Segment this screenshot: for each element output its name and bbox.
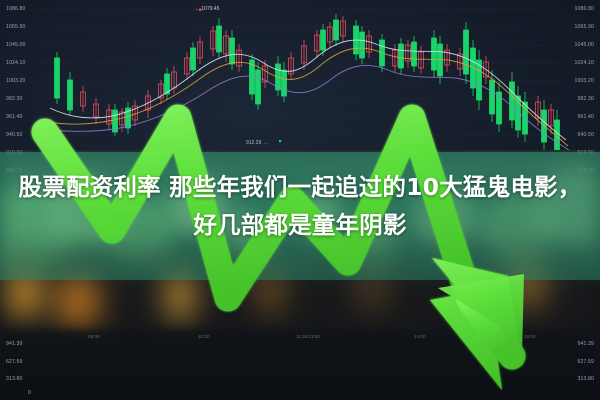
volume-ytick-left-0: 941.39	[6, 341, 22, 347]
volume-ytick-left-1: 627.59	[6, 359, 22, 365]
volume-ytick-left-3: 0	[28, 390, 31, 396]
page-title: 股票配资利率 那些年我们一起追过的10大猛鬼电影，好几部都是童年阴影	[14, 168, 586, 244]
time-tick-2: 11:30/13:00	[296, 334, 320, 339]
time-tick-1: 10:30	[198, 334, 210, 339]
volume-ytick-right-1: 627.59	[578, 359, 594, 365]
volume-ytick-right-0: 941.39	[578, 341, 594, 347]
screenshot-canvas: 1086.80 1065.90 1045.00 1024.10 1003.20 …	[0, 0, 600, 400]
volume-ytick-left-2: 313.80	[6, 376, 22, 382]
time-tick-4: 15:00	[524, 334, 536, 339]
time-tick-3: 14:00	[414, 334, 426, 339]
volume-ytick-right-2: 313.80	[578, 376, 594, 382]
time-tick-0: 09:35	[88, 334, 100, 339]
